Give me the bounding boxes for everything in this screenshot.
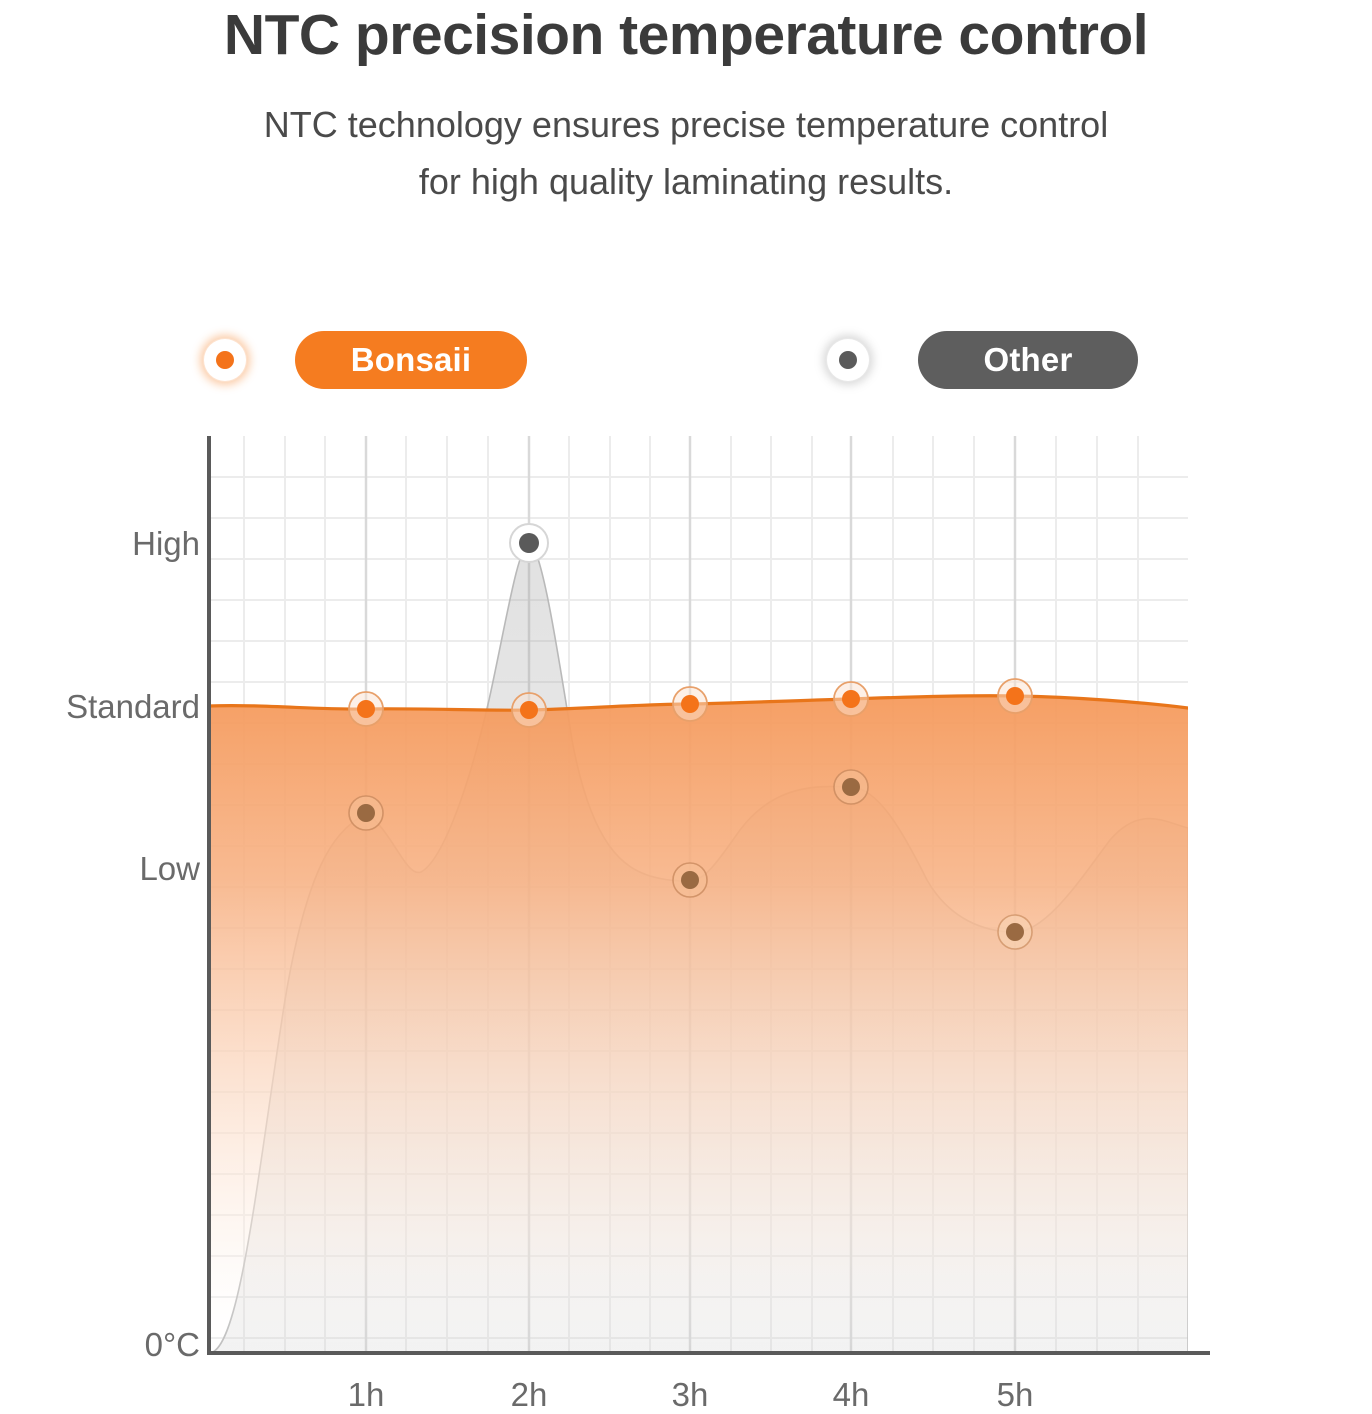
temperature-chart: High Standard Low 0°C 1h 2h 3h 4h 5h xyxy=(0,0,1372,1413)
series-bonsaii-area xyxy=(209,696,1188,1353)
plot-area xyxy=(0,0,1372,1413)
